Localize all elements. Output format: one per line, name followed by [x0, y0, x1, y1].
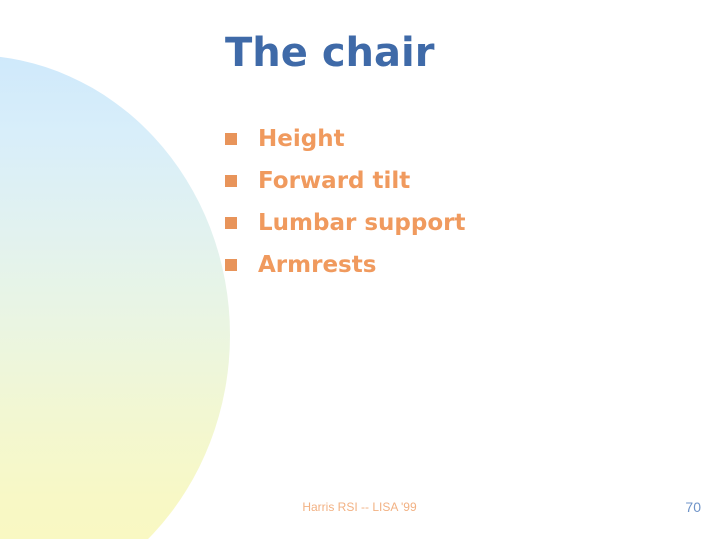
slide: The chair Height Forward tilt Lumbar sup…: [0, 0, 719, 539]
footer-attribution: Harris RSI -- LISA '99: [0, 500, 719, 514]
square-bullet-icon: [225, 133, 237, 145]
bullet-item-label: Lumbar support: [258, 206, 465, 240]
background-swoosh-decoration: [0, 55, 230, 539]
bullet-item-label: Armrests: [258, 248, 376, 282]
list-item: Lumbar support: [225, 206, 665, 248]
list-item: Forward tilt: [225, 164, 665, 206]
square-bullet-icon: [225, 259, 237, 271]
slide-title: The chair: [225, 29, 434, 77]
list-item: Armrests: [225, 248, 665, 290]
bullet-list: Height Forward tilt Lumbar support Armre…: [225, 122, 665, 290]
square-bullet-icon: [225, 175, 237, 187]
bullet-item-label: Forward tilt: [258, 164, 410, 198]
list-item: Height: [225, 122, 665, 164]
slide-page-number: 70: [685, 499, 701, 515]
bullet-item-label: Height: [258, 122, 345, 156]
square-bullet-icon: [225, 217, 237, 229]
